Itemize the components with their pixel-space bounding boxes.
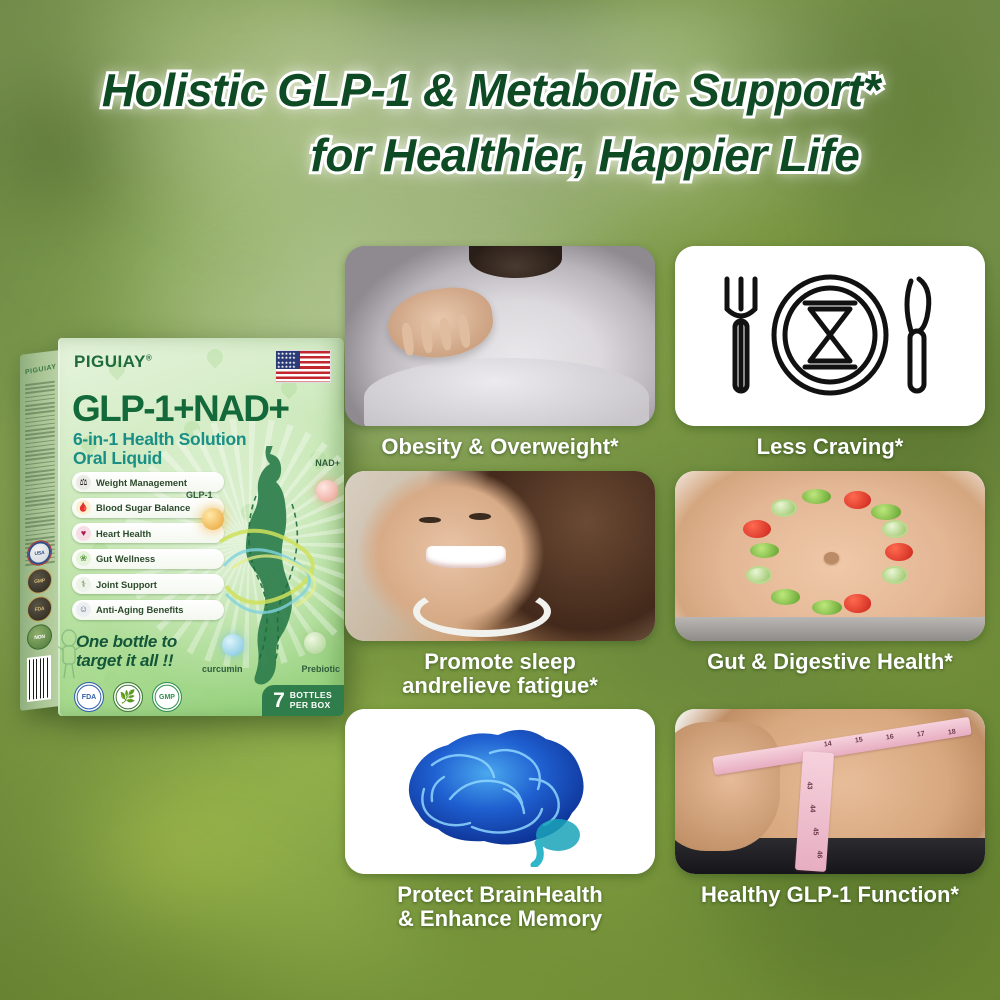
barcode xyxy=(27,655,51,702)
feature-caption-brain-line-1: Protect BrainHealth xyxy=(345,883,655,907)
nad-label: NAD+ xyxy=(315,458,340,468)
cutlery-icon xyxy=(705,269,955,404)
feature-cell-glp1: 14 15 16 17 18 43 44 45 46 Healthy GLP-1… xyxy=(675,709,985,931)
feature-card-craving[interactable] xyxy=(675,246,985,426)
vegetable-ring xyxy=(746,491,920,620)
nad-molecule-icon xyxy=(316,480,338,502)
benefit-item: ❀ Gut Wellness xyxy=(72,549,224,569)
us-flag-icon: ★★★★★★★★★★★★★★★★★★★★ xyxy=(275,350,331,383)
registered-mark: ® xyxy=(146,353,152,362)
feature-cell-brain: Protect BrainHealth & Enhance Memory xyxy=(345,709,655,931)
face-icon: ☺ xyxy=(76,602,91,617)
feature-caption-sleep: Promote sleep andrelieve fatigue* xyxy=(345,650,655,698)
brand-name: PIGUIAY® xyxy=(74,352,152,372)
feature-caption-craving: Less Craving* xyxy=(675,435,985,459)
eye-shape xyxy=(419,517,441,524)
curcumin-label: curcumin xyxy=(202,664,243,674)
feature-caption-brain: Protect BrainHealth & Enhance Memory xyxy=(345,883,655,931)
bottle-count-text: BOTTLES PER BOX xyxy=(290,691,332,710)
brain-icon xyxy=(380,717,620,867)
package-slogan: One bottle to target it all !! xyxy=(76,632,177,670)
package-front-face: PIGUIAY® ★★★★★★★★★★★★★★★★★★★★ GLP-1+NAD+… xyxy=(58,338,344,716)
side-brand: PIGUIAY xyxy=(25,363,57,376)
waistband-shape xyxy=(675,617,985,641)
slogan-line-2: target it all !! xyxy=(76,651,177,670)
feature-card-gut[interactable] xyxy=(675,471,985,641)
glp1-label: GLP-1 xyxy=(186,490,213,500)
benefit-item: 🩸 Blood Sugar Balance xyxy=(72,498,224,518)
benefit-label: Weight Management xyxy=(96,477,187,488)
feature-card-obesity[interactable] xyxy=(345,246,655,426)
package-side-panel: PIGUIAY USA GMP FDA NON xyxy=(20,350,60,711)
eye-shape xyxy=(469,513,491,520)
smiling-woman-photo xyxy=(345,471,655,641)
beard-shape xyxy=(469,246,562,278)
belly-shape xyxy=(364,358,649,426)
benefit-label: Anti-Aging Benefits xyxy=(96,604,184,615)
feature-cell-gut: Gut & Digestive Health* xyxy=(675,471,985,698)
headphones-shape xyxy=(413,586,551,637)
feature-caption-sleep-line-2: andrelieve fatigue* xyxy=(345,674,655,698)
feature-caption-glp1: Healthy GLP-1 Function* xyxy=(675,883,985,907)
feature-cell-obesity: Obesity & Overweight* xyxy=(345,246,655,459)
overweight-man-photo xyxy=(345,246,655,426)
bottle-count-badge: 7 BOTTLES PER BOX xyxy=(262,685,344,716)
smile-shape xyxy=(426,546,507,568)
benefit-item: ☺ Anti-Aging Benefits xyxy=(72,600,224,620)
glucose-icon: 🩸 xyxy=(76,500,91,515)
gut-icon: ❀ xyxy=(76,551,91,566)
benefit-item: ⚕ Joint Support xyxy=(72,574,224,594)
prebiotic-molecule-icon xyxy=(304,632,326,654)
flag-canton: ★★★★★★★★★★★★★★★★★★★★ xyxy=(276,351,300,369)
feature-card-brain[interactable] xyxy=(345,709,655,874)
hand-shape xyxy=(384,282,498,364)
bottle-count-line-2: PER BOX xyxy=(290,700,331,710)
benefit-label: Blood Sugar Balance xyxy=(96,502,190,513)
fda-approved-seal: FDA xyxy=(74,682,104,712)
glp1-molecule-icon xyxy=(202,508,224,530)
feature-caption-obesity: Obesity & Overweight* xyxy=(345,435,655,459)
feature-row-3: Protect BrainHealth & Enhance Memory 14 … xyxy=(345,709,985,931)
product-package: PIGUIAY USA GMP FDA NON PIGUIAY® ★★★ xyxy=(14,338,348,720)
bottle-count-number: 7 xyxy=(273,690,285,711)
benefit-label: Gut Wellness xyxy=(96,553,155,564)
feature-cell-craving: Less Craving* xyxy=(675,246,985,459)
feature-row-1: Obesity & Overweight* xyxy=(345,246,985,459)
benefit-label: Joint Support xyxy=(96,579,157,590)
prebiotic-label: Prebiotic xyxy=(301,664,340,674)
feature-caption-gut: Gut & Digestive Health* xyxy=(675,650,985,674)
feature-card-glp1[interactable]: 14 15 16 17 18 43 44 45 46 xyxy=(675,709,985,874)
side-nongmo-seal: NON xyxy=(27,623,52,651)
side-usa-seal: USA xyxy=(27,539,52,567)
benefit-item: ⚖ Weight Management xyxy=(72,472,224,492)
feature-caption-sleep-line-1: Promote sleep xyxy=(345,650,655,674)
feature-grid: Obesity & Overweight* xyxy=(345,246,985,931)
side-fda-seal: FDA xyxy=(27,595,52,623)
plate-fork-knife-hourglass-icon xyxy=(675,246,985,426)
certification-seals: FDA 🌿 GMP xyxy=(74,682,182,712)
vegetable-circle-belly-photo xyxy=(675,471,985,641)
woman-silhouette: GLP-1 NAD+ curcumin Prebiotic xyxy=(208,446,328,690)
curcumin-molecule-icon xyxy=(222,634,244,656)
measuring-tape-waist-photo: 14 15 16 17 18 43 44 45 46 xyxy=(675,709,985,874)
gmp-certified-seal: GMP xyxy=(152,682,182,712)
side-gmp-seal: GMP xyxy=(27,567,52,595)
blue-brain-photo xyxy=(345,709,655,874)
feature-card-sleep[interactable] xyxy=(345,471,655,641)
product-title: GLP-1+NAD+ xyxy=(72,388,288,430)
scale-icon: ⚖ xyxy=(76,475,91,490)
bottle-count-line-1: BOTTLES xyxy=(290,690,332,700)
benefit-item: ♥ Heart Health xyxy=(72,523,224,543)
feature-row-2: Promote sleep andrelieve fatigue* xyxy=(345,471,985,698)
joint-icon: ⚕ xyxy=(76,577,91,592)
benefit-label: Heart Health xyxy=(96,528,151,539)
feature-caption-brain-line-2: & Enhance Memory xyxy=(345,907,655,931)
feature-cell-sleep: Promote sleep andrelieve fatigue* xyxy=(345,471,655,698)
arm-shape xyxy=(675,722,780,851)
heart-icon: ♥ xyxy=(76,526,91,541)
natural-seal: 🌿 xyxy=(113,682,143,712)
slogan-line-1: One bottle to xyxy=(76,632,177,651)
brand-text: PIGUIAY xyxy=(74,352,146,371)
